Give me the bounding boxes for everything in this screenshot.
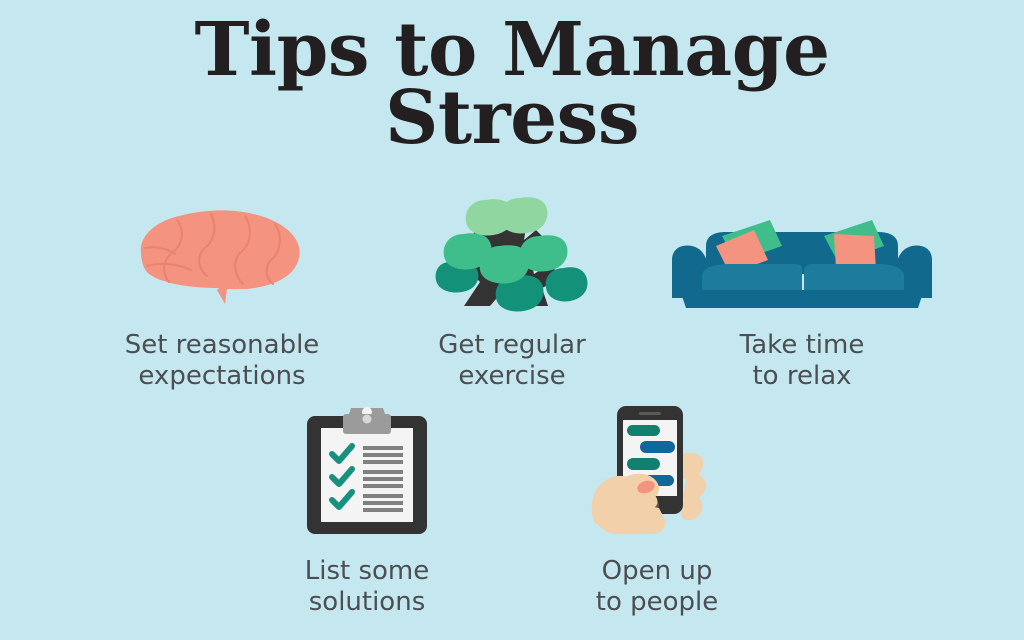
brain-art [77, 188, 367, 316]
clipboard-icon [301, 402, 433, 538]
tip-label-get-exercise: Get regular exercise [438, 330, 586, 391]
phone-hand-icon [587, 402, 727, 538]
tip-label-take-time-relax: Take time to relax [740, 330, 865, 391]
tip-label-open-up: Open up to people [596, 556, 719, 617]
title-line-2: Stress [0, 84, 1024, 152]
brain-icon [127, 196, 317, 316]
tips-row-bottom: List some solutions [0, 398, 1024, 617]
phone-hand-art [512, 398, 802, 538]
tip-label-list-solutions: List some solutions [305, 556, 430, 617]
couch-art [657, 188, 947, 316]
tree-art [367, 188, 657, 316]
poster-title: Tips to Manage Stress [0, 16, 1024, 152]
infographic-poster: Tips to Manage Stress Set [0, 0, 1024, 640]
tip-label-set-expectations: Set reasonable expectations [125, 330, 320, 391]
clipboard-art [222, 398, 512, 538]
tip-get-exercise: Get regular exercise [367, 188, 657, 391]
couch-icon [666, 212, 938, 316]
tips-row-top: Set reasonable expectations [0, 188, 1024, 391]
tip-list-solutions: List some solutions [222, 398, 512, 617]
title-line-1: Tips to Manage [0, 16, 1024, 84]
tree-icon [424, 196, 600, 316]
tip-take-time-relax: Take time to relax [657, 188, 947, 391]
tip-set-expectations: Set reasonable expectations [77, 188, 367, 391]
tip-open-up: Open up to people [512, 398, 802, 617]
